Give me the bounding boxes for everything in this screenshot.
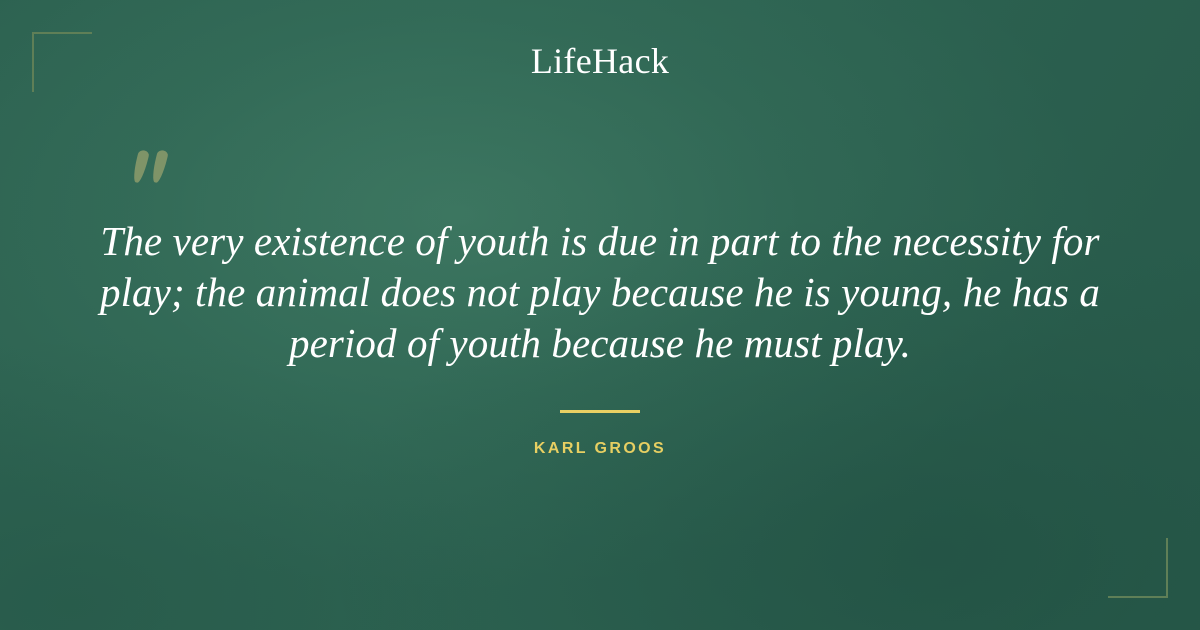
double-quote-stroke-left	[131, 149, 150, 183]
quote-author: KARL GROOS	[0, 440, 1200, 458]
quote-line: period of youth because he must play.	[80, 318, 1120, 369]
quote-card: LifeHack The very existence of youth is …	[0, 0, 1200, 630]
corner-bracket-bottom-right-icon	[1108, 538, 1168, 598]
double-quote-stroke-right	[150, 149, 169, 183]
brand-logo[interactable]: LifeHack	[0, 39, 1200, 83]
quote-line: The very existence of youth is due in pa…	[80, 216, 1120, 267]
quote-line: play; the animal does not play because h…	[80, 267, 1120, 318]
quote-block: The very existence of youth is due in pa…	[80, 216, 1120, 369]
double-quote-icon	[133, 150, 175, 190]
attribution-divider	[560, 410, 640, 413]
